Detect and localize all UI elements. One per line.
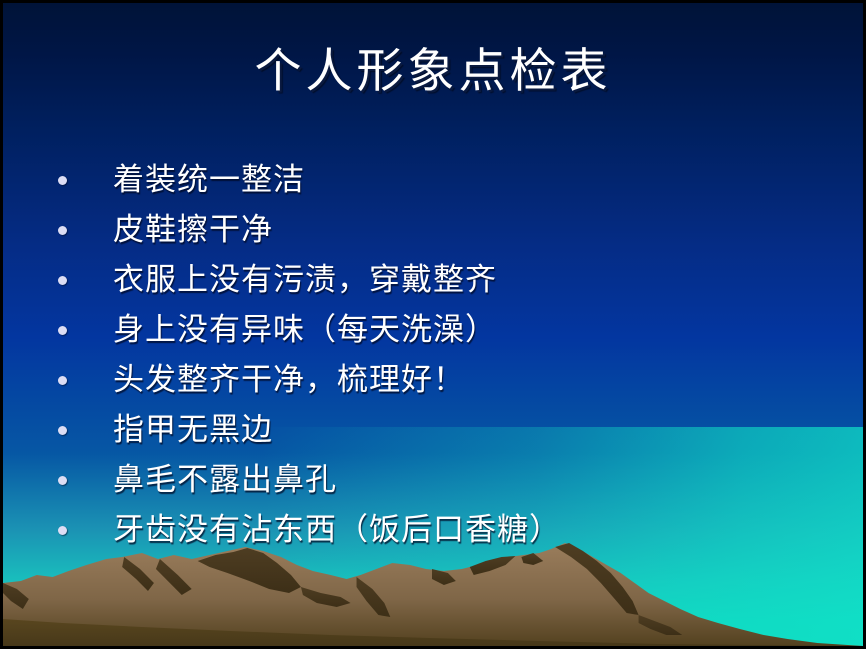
- dot-bullet-icon: [58, 176, 67, 185]
- list-item: 头发整齐干净，梳理好！: [47, 355, 843, 405]
- dot-bullet-icon: [58, 326, 67, 335]
- list-item: 指甲无黑边: [47, 405, 843, 455]
- checklist: 着装统一整洁 皮鞋擦干净 衣服上没有污渍，穿戴整齐 身上没有异味（每天洗澡） 头…: [47, 155, 843, 555]
- list-item: 鼻毛不露出鼻孔: [47, 455, 843, 505]
- list-item-label: 衣服上没有污渍，穿戴整齐: [113, 262, 497, 298]
- dot-bullet-icon: [58, 526, 67, 535]
- page-title: 个人形象点检表: [3, 43, 863, 102]
- list-item: 牙齿没有沾东西（饭后口香糖）: [47, 505, 843, 555]
- dot-bullet-icon: [58, 476, 67, 485]
- dot-bullet-icon: [58, 226, 67, 235]
- dot-bullet-icon: [58, 276, 67, 285]
- list-item-label: 着装统一整洁: [113, 162, 305, 198]
- list-item-label: 皮鞋擦干净: [113, 212, 273, 248]
- presentation-slide: 个人形象点检表 着装统一整洁 皮鞋擦干净 衣服上没有污渍，穿戴整齐 身上没有异味…: [0, 0, 866, 649]
- list-item: 身上没有异味（每天洗澡）: [47, 305, 843, 355]
- list-item: 着装统一整洁: [47, 155, 843, 205]
- list-item-label: 鼻毛不露出鼻孔: [113, 462, 337, 498]
- dot-bullet-icon: [58, 426, 67, 435]
- list-item-label: 指甲无黑边: [113, 412, 273, 448]
- list-item-label: 头发整齐干净，梳理好！: [113, 362, 465, 398]
- list-item-label: 身上没有异味（每天洗澡）: [113, 312, 497, 348]
- list-item: 皮鞋擦干净: [47, 205, 843, 255]
- list-item: 衣服上没有污渍，穿戴整齐: [47, 255, 843, 305]
- dot-bullet-icon: [58, 376, 67, 385]
- list-item-label: 牙齿没有沾东西（饭后口香糖）: [113, 512, 561, 548]
